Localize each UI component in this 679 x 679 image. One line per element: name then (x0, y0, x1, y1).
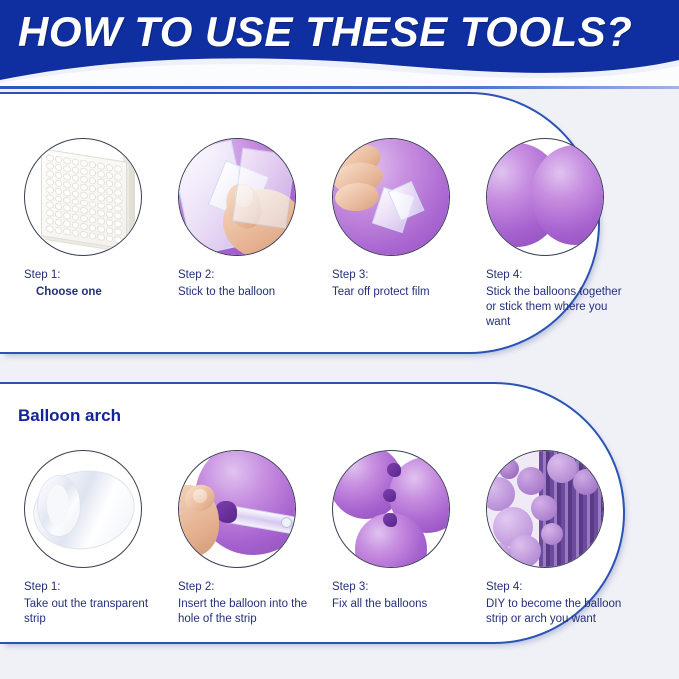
step-caption-2-1: Step 1: Take out the transparent strip (24, 580, 170, 627)
step-image-transparent-strip (24, 450, 142, 568)
step-image-balloon-arch-result (486, 450, 604, 568)
header-underline (0, 86, 679, 89)
step-title: Step 4: (486, 580, 632, 595)
glue-dot-sheet (41, 148, 127, 250)
header-wave-decoration (0, 50, 679, 86)
step-card-1-1: Step 1: Choose one (18, 138, 170, 300)
step-card-1-4: Step 4: Stick the balloons together or s… (480, 138, 632, 330)
step-image-glue-dot-sheet (24, 138, 142, 256)
page-title: HOW TO USE THESE TOOLS? (18, 8, 632, 56)
step-card-1-2: Step 2: Stick to the balloon (172, 138, 324, 300)
step-image-insert-balloon (178, 450, 296, 568)
step-card-2-1: Step 1: Take out the transparent strip (18, 450, 170, 627)
step-caption-1-3: Step 3: Tear off protect film (332, 268, 478, 300)
step-description: Take out the transparent strip (24, 597, 170, 627)
step-caption-1-1: Step 1: Choose one (24, 268, 170, 300)
step-description: Choose one (24, 285, 170, 300)
panel-glue-dots: Step 1: Choose one (0, 92, 600, 354)
step-title: Step 2: (178, 580, 324, 595)
step-card-2-4: Step 4: DIY to become the balloon strip … (480, 450, 632, 627)
step-title: Step 1: (24, 268, 170, 283)
step-description: Tear off protect film (332, 285, 478, 300)
step-card-2-3: Step 3: Fix all the balloons (326, 450, 478, 612)
glue-dot-grid (46, 154, 122, 244)
step-description: Insert the balloon into the hole of the … (178, 597, 324, 627)
step-caption-2-3: Step 3: Fix all the balloons (332, 580, 478, 612)
step-title: Step 1: (24, 580, 170, 595)
step-title: Step 4: (486, 268, 632, 283)
step-caption-1-2: Step 2: Stick to the balloon (178, 268, 324, 300)
step-caption-2-4: Step 4: DIY to become the balloon strip … (486, 580, 632, 627)
step-image-stick-to-balloon (178, 138, 296, 256)
step-image-fix-balloons (332, 450, 450, 568)
step-caption-1-4: Step 4: Stick the balloons together or s… (486, 268, 632, 330)
step-description: Stick the balloons together or stick the… (486, 285, 632, 330)
step-title: Step 3: (332, 580, 478, 595)
step-title: Step 2: (178, 268, 324, 283)
page-header: HOW TO USE THESE TOOLS? (0, 0, 679, 86)
step-card-2-2: Step 2: Insert the balloon into the hole… (172, 450, 324, 627)
step-title: Step 3: (332, 268, 478, 283)
step-caption-2-2: Step 2: Insert the balloon into the hole… (178, 580, 324, 627)
step-image-tear-off-film (332, 138, 450, 256)
steps-row-glue-dots: Step 1: Choose one (0, 94, 598, 352)
step-card-1-3: Step 3: Tear off protect film (326, 138, 478, 300)
step-description: DIY to become the balloon strip or arch … (486, 597, 632, 627)
panel-balloon-arch: Balloon arch Step 1: Take out the transp… (0, 382, 625, 644)
step-description: Stick to the balloon (178, 285, 324, 300)
step-description: Fix all the balloons (332, 597, 478, 612)
step-image-balloons-together (486, 138, 604, 256)
steps-row-balloon-arch: Step 1: Take out the transparent strip (0, 384, 623, 642)
